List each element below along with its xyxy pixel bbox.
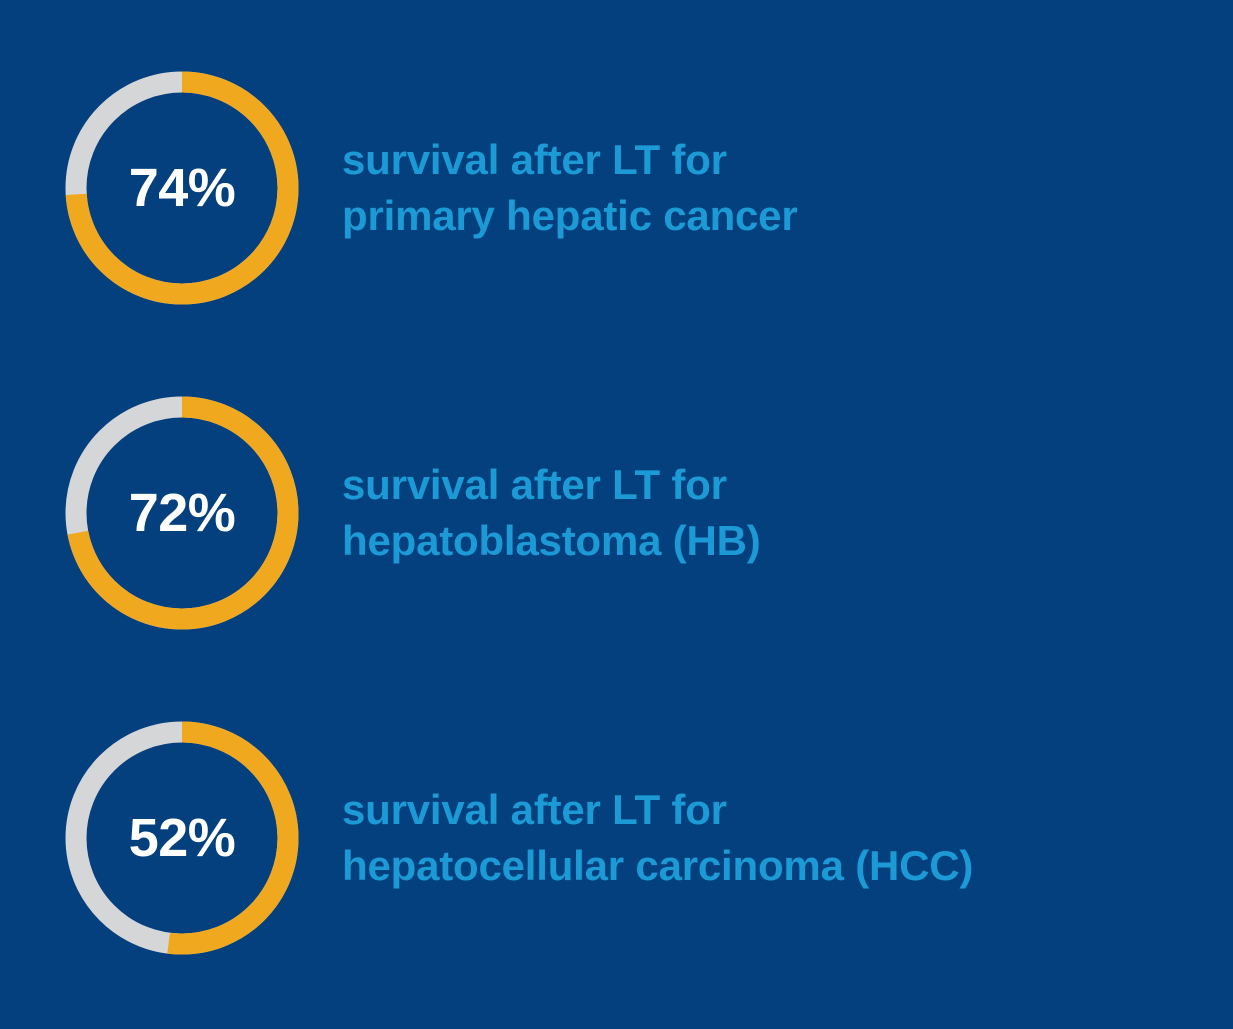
donut-percent-value: 52%: [56, 712, 308, 964]
stat-row: 52% survival after LT for hepatocellular…: [0, 712, 1233, 964]
infographic-root: 74% survival after LT for primary hepati…: [0, 0, 1233, 1029]
stat-row: 74% survival after LT for primary hepati…: [0, 62, 1233, 314]
stat-row: 72% survival after LT for hepatoblastoma…: [0, 387, 1233, 639]
donut-chart-primary-hepatic-cancer: 74%: [56, 62, 308, 314]
donut-chart-hepatoblastoma: 72%: [56, 387, 308, 639]
donut-percent-value: 74%: [56, 62, 308, 314]
stat-label: survival after LT for hepatocellular car…: [342, 782, 973, 895]
stat-label: survival after LT for primary hepatic ca…: [342, 132, 798, 245]
stat-label: survival after LT for hepatoblastoma (HB…: [342, 457, 761, 570]
donut-chart-hepatocellular-carcinoma: 52%: [56, 712, 308, 964]
donut-percent-value: 72%: [56, 387, 308, 639]
